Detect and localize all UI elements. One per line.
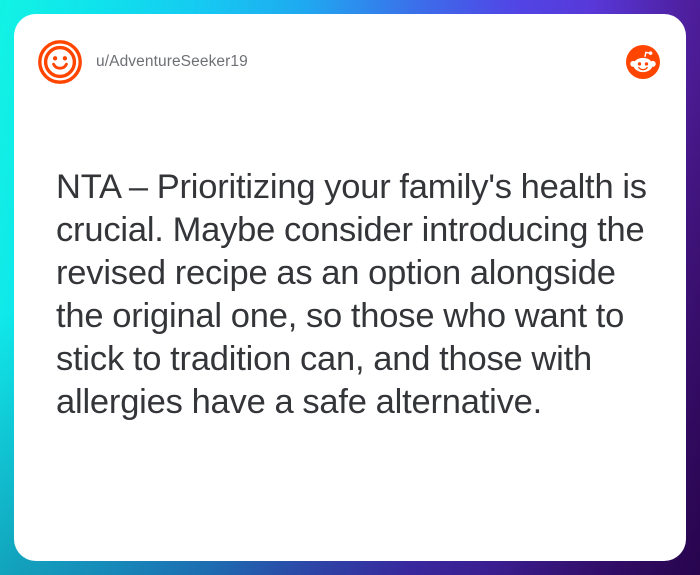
username-label[interactable]: u/AdventureSeeker19 [96,53,248,71]
post-body-text: NTA – Prioritizing your family's health … [56,166,652,424]
card-header: u/AdventureSeeker19 [14,14,686,110]
reddit-comment-card: u/AdventureSeeker19 NTA – Prioritizing y… [14,14,686,561]
smiley-face-avatar-icon[interactable] [38,40,82,84]
reddit-snoo-icon[interactable] [626,45,660,79]
